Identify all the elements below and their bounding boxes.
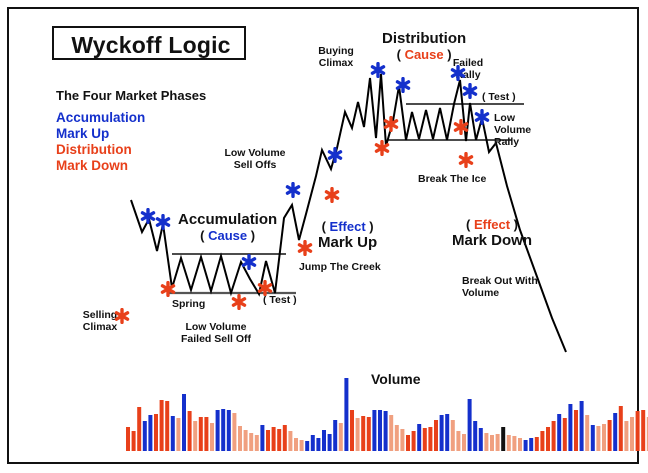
volume-bar [462,434,466,451]
phase-paren-mark-down: ( Effect ) [452,218,532,233]
volume-bar [440,415,444,451]
volume-bar [529,438,533,451]
volume-bar [484,433,488,451]
volume-bar [473,421,477,451]
annotation-low-volume-rally: Low Volume Rally [494,113,531,148]
volume-bar [361,416,365,451]
legend-item-distribution: Distribution [56,142,132,157]
volume-bar [585,415,589,451]
annotation-test-accumulation: ( Test ) [263,295,297,307]
volume-bar [160,400,164,451]
volume-bar [535,437,539,451]
volume-bar [479,428,483,451]
volume-bar [445,414,449,451]
marker-blue-3 [285,182,301,198]
annotation-selling-climax: Selling Climax [83,310,117,334]
volume-bar [406,435,410,451]
phase-title-distribution: Distribution [382,31,466,48]
marker-red-6 [374,140,390,156]
volume-bar [328,434,332,451]
volume-bar [540,431,544,451]
phase-paren-accumulation: ( Cause ) [178,229,277,244]
paren-open: ( [397,47,405,62]
volume-bar [216,410,220,451]
marker-red-3 [257,280,273,296]
marker-blue-7 [450,65,466,81]
volume-histogram [126,378,648,451]
volume-bar [501,427,505,451]
marker-red-8 [453,119,469,135]
volume-bar [221,409,225,451]
volume-bar [277,429,281,451]
marker-red-2 [231,294,247,310]
volume-bar [154,414,158,451]
volume-bar [624,421,628,451]
volume-bar [171,416,175,451]
volume-bar [395,425,399,451]
volume-bar [249,433,253,451]
volume-bar [210,423,214,451]
volume-bar [232,413,236,451]
annotation-break-out-with-volume: Break Out With Volume [462,276,538,300]
volume-bar [602,424,606,451]
annotation-break-the-ice: Break The Ice [418,174,486,186]
volume-bar [591,425,595,451]
volume-bar [283,425,287,451]
phase-title-mark-up: Mark Up [318,235,377,252]
volume-bar [496,434,500,451]
phase-mark-down: ( Effect )Mark Down [452,218,532,249]
phase-mark-up: ( Effect )Mark Up [318,220,377,251]
volume-bar [199,417,203,451]
volume-bar [143,421,147,451]
volume-bar [344,378,348,451]
legend-heading: The Four Market Phases [56,89,206,104]
volume-bar [176,418,180,451]
volume-bar [193,421,197,451]
annotation-jump-the-creek: Jump The Creek [299,262,381,274]
phase-title-mark-down: Mark Down [452,233,532,250]
volume-bar [434,420,438,451]
volume-bar [367,417,371,451]
volume-bar [378,410,382,451]
paren-close: ) [510,217,518,232]
phase-accumulation: Accumulation( Cause ) [178,212,277,243]
paren-close: ) [366,219,374,234]
paren-close: ) [444,47,452,62]
volume-bar [412,431,416,451]
legend-item-mark-down: Mark Down [56,158,128,173]
paren-open: ( [466,217,474,232]
volume-bar [126,427,130,451]
volume-bar [148,415,152,451]
title-box: Wyckoff Logic [52,26,246,60]
volume-title: Volume [371,372,421,388]
marker-blue-2 [241,254,257,270]
paren-word: Effect [330,219,366,234]
marker-red-1 [160,281,176,297]
volume-bar [630,417,634,451]
volume-bar [574,410,578,451]
paren-word: Effect [474,217,510,232]
volume-bar [552,421,556,451]
legend-item-mark-up: Mark Up [56,126,109,141]
volume-bar [165,401,169,451]
marker-red-9 [458,152,474,168]
volume-bar [456,431,460,451]
volume-bar [596,426,600,451]
volume-bar [507,435,511,451]
volume-bar [557,414,561,451]
marker-red-4 [297,240,313,256]
paren-word: Cause [208,228,247,243]
volume-bar [350,410,354,451]
volume-bar [423,428,427,451]
volume-bar [518,438,522,451]
volume-bar [619,406,623,451]
volume-bar [311,435,315,451]
marker-blue-6 [395,77,411,93]
volume-bar [266,430,270,451]
volume-bar [490,435,494,451]
volume-bar [132,431,136,451]
paren-open: ( [322,219,330,234]
marker-blue-8 [462,83,478,99]
volume-bar [563,418,567,451]
volume-bar [613,413,617,451]
volume-bar [546,427,550,451]
volume-bar [384,411,388,451]
volume-bar [255,435,259,451]
volume-bar [580,401,584,451]
volume-bar [182,394,186,451]
marker-red-7 [383,116,399,132]
volume-bar [636,411,640,451]
volume-bar [300,440,304,451]
phase-title-accumulation: Accumulation [178,212,277,229]
volume-bar [204,417,208,451]
volume-bar [322,430,326,451]
volume-bar [227,410,231,451]
annotation-low-volume-sell-offs: Low Volume Sell Offs [224,148,285,172]
marker-red-5 [324,187,340,203]
volume-bar [389,415,393,451]
volume-bar [417,424,421,451]
volume-bar [512,436,516,451]
volume-bar [260,425,264,451]
marker-blue-4 [327,147,343,163]
volume-bar [400,429,404,451]
page-title: Wyckoff Logic [54,28,248,62]
volume-bar [238,426,242,451]
marker-blue-0 [140,208,156,224]
volume-bar [524,440,528,451]
volume-bar [428,427,432,451]
volume-bar [137,407,141,451]
annotation-buying-climax: Buying Climax [318,46,354,70]
paren-open: ( [200,228,208,243]
volume-bar [372,410,376,451]
marker-red-0 [114,308,130,324]
volume-bar [333,420,337,451]
marker-blue-1 [155,214,171,230]
volume-bar [288,431,292,451]
volume-bar [316,438,320,451]
volume-bar [339,423,343,451]
volume-bar [356,418,360,451]
phase-paren-mark-up: ( Effect ) [318,220,377,235]
volume-bar [608,420,612,451]
volume-bar [244,430,248,451]
annotation-test-distribution: ( Test ) [482,92,516,104]
volume-bar [272,427,276,451]
marker-blue-5 [370,62,386,78]
annotation-spring: Spring [172,299,205,311]
volume-bar [188,411,192,451]
volume-bar [451,420,455,451]
volume-bar [568,404,572,451]
legend-item-accumulation: Accumulation [56,110,145,125]
marker-blue-9 [474,109,490,125]
diagram-canvas: Wyckoff Logic The Four Market Phases Acc… [0,0,648,473]
volume-bar [305,441,309,451]
volume-bar [468,399,472,451]
paren-word: Cause [405,47,444,62]
paren-close: ) [247,228,255,243]
volume-bar [641,410,645,451]
volume-bar [294,438,298,451]
annotation-low-volume-failed-sell-off: Low Volume Failed Sell Off [181,322,251,346]
